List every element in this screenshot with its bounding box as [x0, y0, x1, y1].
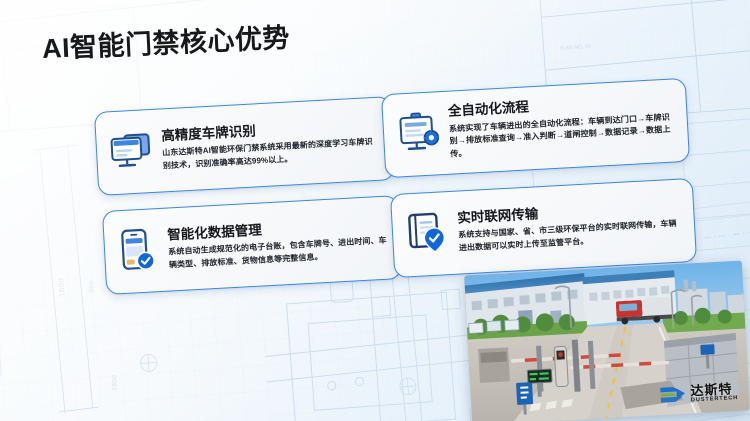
feature-card-data-management[interactable]: 智能化数据管理 系统自动生成规范化的电子台账，包含车牌号、进出时间、车辆类型、排…	[102, 195, 402, 295]
logo-text: 达斯特 DUSTERTECH	[690, 382, 738, 404]
facility-photo: 达斯特 DUSTERTECH	[464, 261, 750, 421]
logo-en: DUSTERTECH	[691, 396, 738, 404]
feature-card-automated-process[interactable]: 全自动化流程 系统实现了车辆进出的全自动化流程：车辆到达门口→车牌识别→排放标准…	[381, 78, 690, 178]
card-description: 系统实现了车辆进出的全自动化流程：车辆到达门口→车牌识别→排放标准查询→准入判断…	[449, 111, 677, 161]
dustertech-mark-icon	[659, 384, 686, 407]
feature-card-network-transmission[interactable]: 实时联网传输 系统支持与国家、省、市三级环保平台的实时联网传输，车辆进出数据可以…	[390, 178, 697, 278]
card-body: 高精度车牌识别 山东达斯特AI智能环保门禁系统采用最新的深度学习车牌识别技术，识…	[161, 116, 393, 173]
monitor-icon	[108, 128, 154, 175]
phone-check-icon	[116, 226, 161, 277]
card-body: 全自动化流程 系统实现了车辆进出的全自动化流程：车辆到达门口→车牌识别→排放标准…	[448, 91, 689, 161]
document-check-icon	[404, 209, 451, 260]
feature-card-plate-recognition[interactable]: 高精度车牌识别 山东达斯特AI智能环保门禁系统采用最新的深度学习车牌识别技术，识…	[94, 96, 395, 196]
slide-canvas: DUST CONTROL SYSTEM GATE ACCESS LAYOUT P…	[0, 0, 750, 421]
clipboard-gear-icon	[395, 110, 441, 159]
card-body: 实时联网传输 系统支持与国家、省、市三级环保平台的实时联网传输，车辆进出数据可以…	[457, 198, 695, 255]
brand-logo: 达斯特 DUSTERTECH	[654, 378, 744, 411]
card-body: 智能化数据管理 系统自动生成规范化的电子台账，包含车牌号、进出时间、车辆类型、排…	[167, 215, 400, 272]
